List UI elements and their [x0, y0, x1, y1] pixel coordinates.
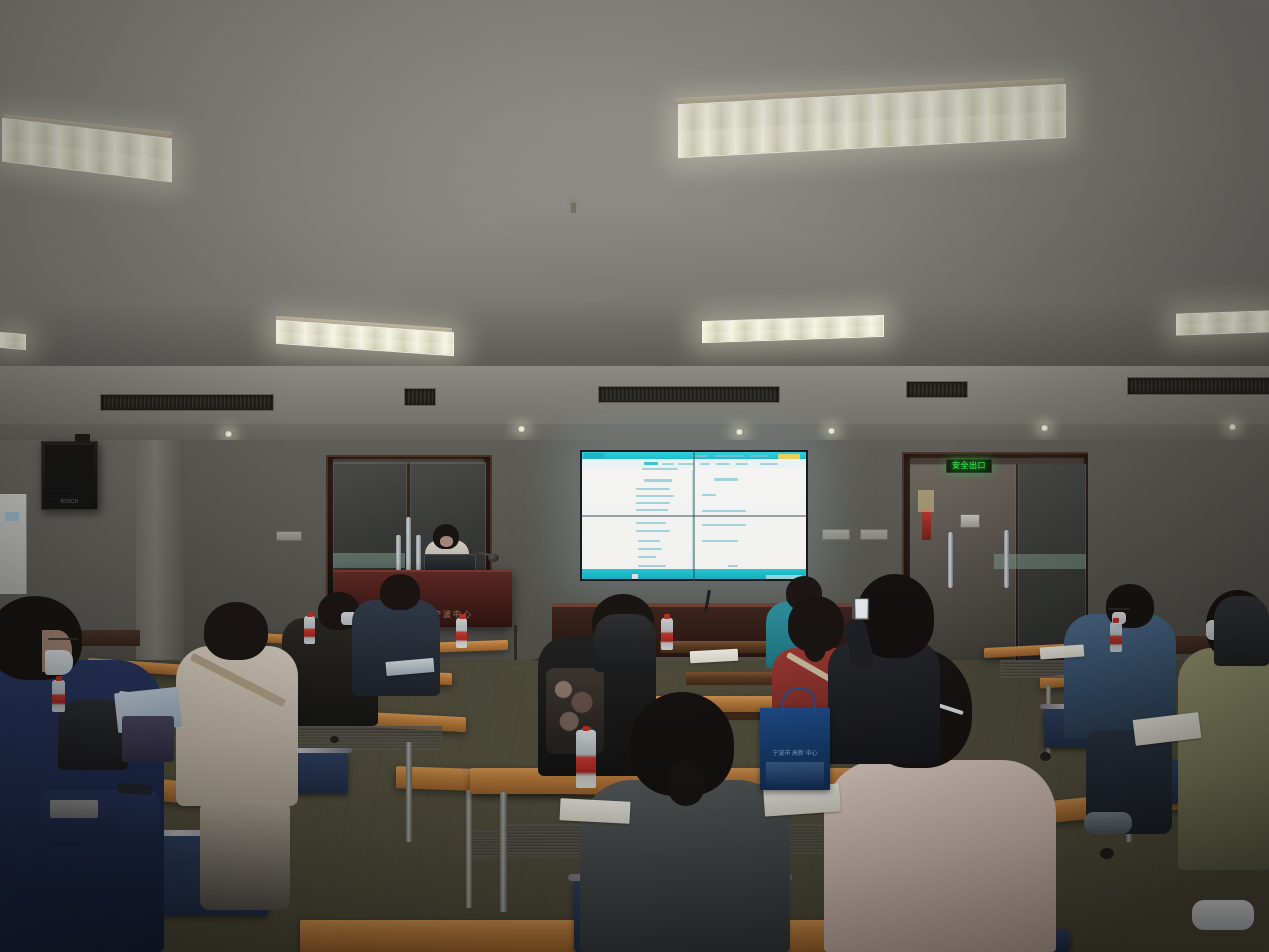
air-vent-center — [598, 386, 780, 403]
door-notice-poster — [918, 490, 934, 512]
air-vent-far-right — [1127, 377, 1269, 395]
person-back-center-body — [594, 614, 656, 672]
ribbon-highlight-chip — [778, 454, 800, 459]
door-right-transom — [910, 458, 1084, 464]
water-bottle-mid-left[interactable] — [304, 616, 315, 644]
grey-item-on-desk — [50, 800, 98, 818]
desk-leg-left-4 — [466, 790, 472, 908]
water-bottle-center[interactable] — [661, 618, 673, 650]
person-olive-coat-body — [1178, 648, 1269, 870]
downlight-4 — [827, 428, 836, 434]
person-blue-hoodie-shoe — [1084, 812, 1132, 834]
access-control-panel[interactable] — [960, 514, 980, 528]
person-blue-hoodie-glasses — [1108, 608, 1130, 610]
person-cream-coat-head — [204, 602, 268, 660]
phone-held-up[interactable] — [854, 598, 869, 620]
podium-metal-tube-2 — [406, 535, 411, 571]
person-pink-coat-body — [824, 760, 1056, 952]
downlight-3 — [735, 429, 744, 435]
paper-on-desk-foreground — [559, 798, 630, 824]
downlight-6 — [1228, 424, 1237, 430]
wall-plate-right[interactable] — [822, 529, 850, 540]
water-bottle-right[interactable] — [1110, 622, 1122, 652]
podium-metal-tube-3 — [416, 535, 421, 571]
door-left-frosted-band — [333, 553, 405, 568]
ribbon-active-tab — [584, 453, 604, 459]
water-bottle-foreground[interactable] — [576, 730, 596, 788]
downlight-5 — [1040, 425, 1049, 431]
wall-speaker: BOSCH — [41, 441, 98, 510]
desk-caster-right-1 — [1100, 848, 1114, 859]
person-blue-suit-glasses — [48, 638, 78, 640]
tote-bag-graphic — [766, 762, 824, 788]
screen-bezel-horizontal — [580, 515, 808, 517]
presenter-face — [440, 536, 453, 547]
desk-basket-left-2 — [290, 726, 442, 750]
air-vent-right — [906, 381, 968, 398]
air-vent-center-small — [404, 388, 436, 406]
person-grey-top-ponytail — [668, 760, 704, 806]
downlight-2 — [517, 426, 526, 432]
tote-bag[interactable]: 宁波市 高新 中心 — [760, 708, 830, 790]
tote-bag-label: 宁波市 高新 中心 — [760, 748, 830, 757]
desk-leg-left-3 — [406, 742, 412, 842]
water-bottle-far-left[interactable] — [52, 680, 65, 712]
sprinkler-head — [571, 203, 576, 213]
air-vent-left — [100, 394, 274, 411]
paper-on-desk-back — [690, 649, 739, 663]
door-right-handle-right — [1004, 530, 1009, 588]
podium-metal-tube-1 — [396, 535, 401, 571]
conference-room-photo: BOSCH 安全出口 — [0, 0, 1269, 952]
tote-bag-handle — [782, 688, 816, 712]
light-switch-plate[interactable] — [276, 531, 302, 541]
person-cream-coat-legs — [200, 800, 290, 910]
fire-extinguisher — [922, 510, 931, 540]
exit-sign: 安全出口 — [946, 459, 992, 473]
person-blue-suit-mask — [45, 650, 73, 675]
person-olive-coat-shoe — [1192, 900, 1254, 930]
door-left-transom — [333, 459, 484, 464]
person-suit-midleft-head — [380, 574, 420, 610]
desk-caster-left-2 — [330, 736, 339, 743]
purple-bag-left — [122, 716, 174, 762]
whiteboard-label — [5, 512, 19, 521]
wall-pillar-left — [136, 440, 184, 670]
taskbar-icon-word — [632, 574, 638, 579]
desk-leg-center-1 — [500, 792, 507, 912]
person-phone-body — [828, 640, 940, 764]
projection-screen — [580, 450, 808, 581]
downlight-1 — [224, 431, 233, 437]
person-cream-coat-body — [176, 646, 298, 806]
door-right-handle-left — [948, 532, 953, 588]
microphone-head — [488, 554, 499, 562]
whiteboard-edge — [0, 494, 27, 594]
person-right-back-body — [1214, 596, 1269, 666]
person-blue-suit-arm — [40, 790, 160, 846]
speaker-brand-label: BOSCH — [42, 499, 97, 505]
person-suit-midleft-body — [352, 600, 440, 696]
person-red-sweater-ponytail — [804, 634, 826, 662]
ceiling-light-mid-right — [1176, 310, 1269, 335]
ceiling-light-far-left — [0, 332, 26, 350]
water-bottle-left-desk[interactable] — [456, 618, 467, 648]
desk-caster-right-2 — [1040, 752, 1051, 761]
wall-plate-right-2[interactable] — [860, 529, 888, 540]
